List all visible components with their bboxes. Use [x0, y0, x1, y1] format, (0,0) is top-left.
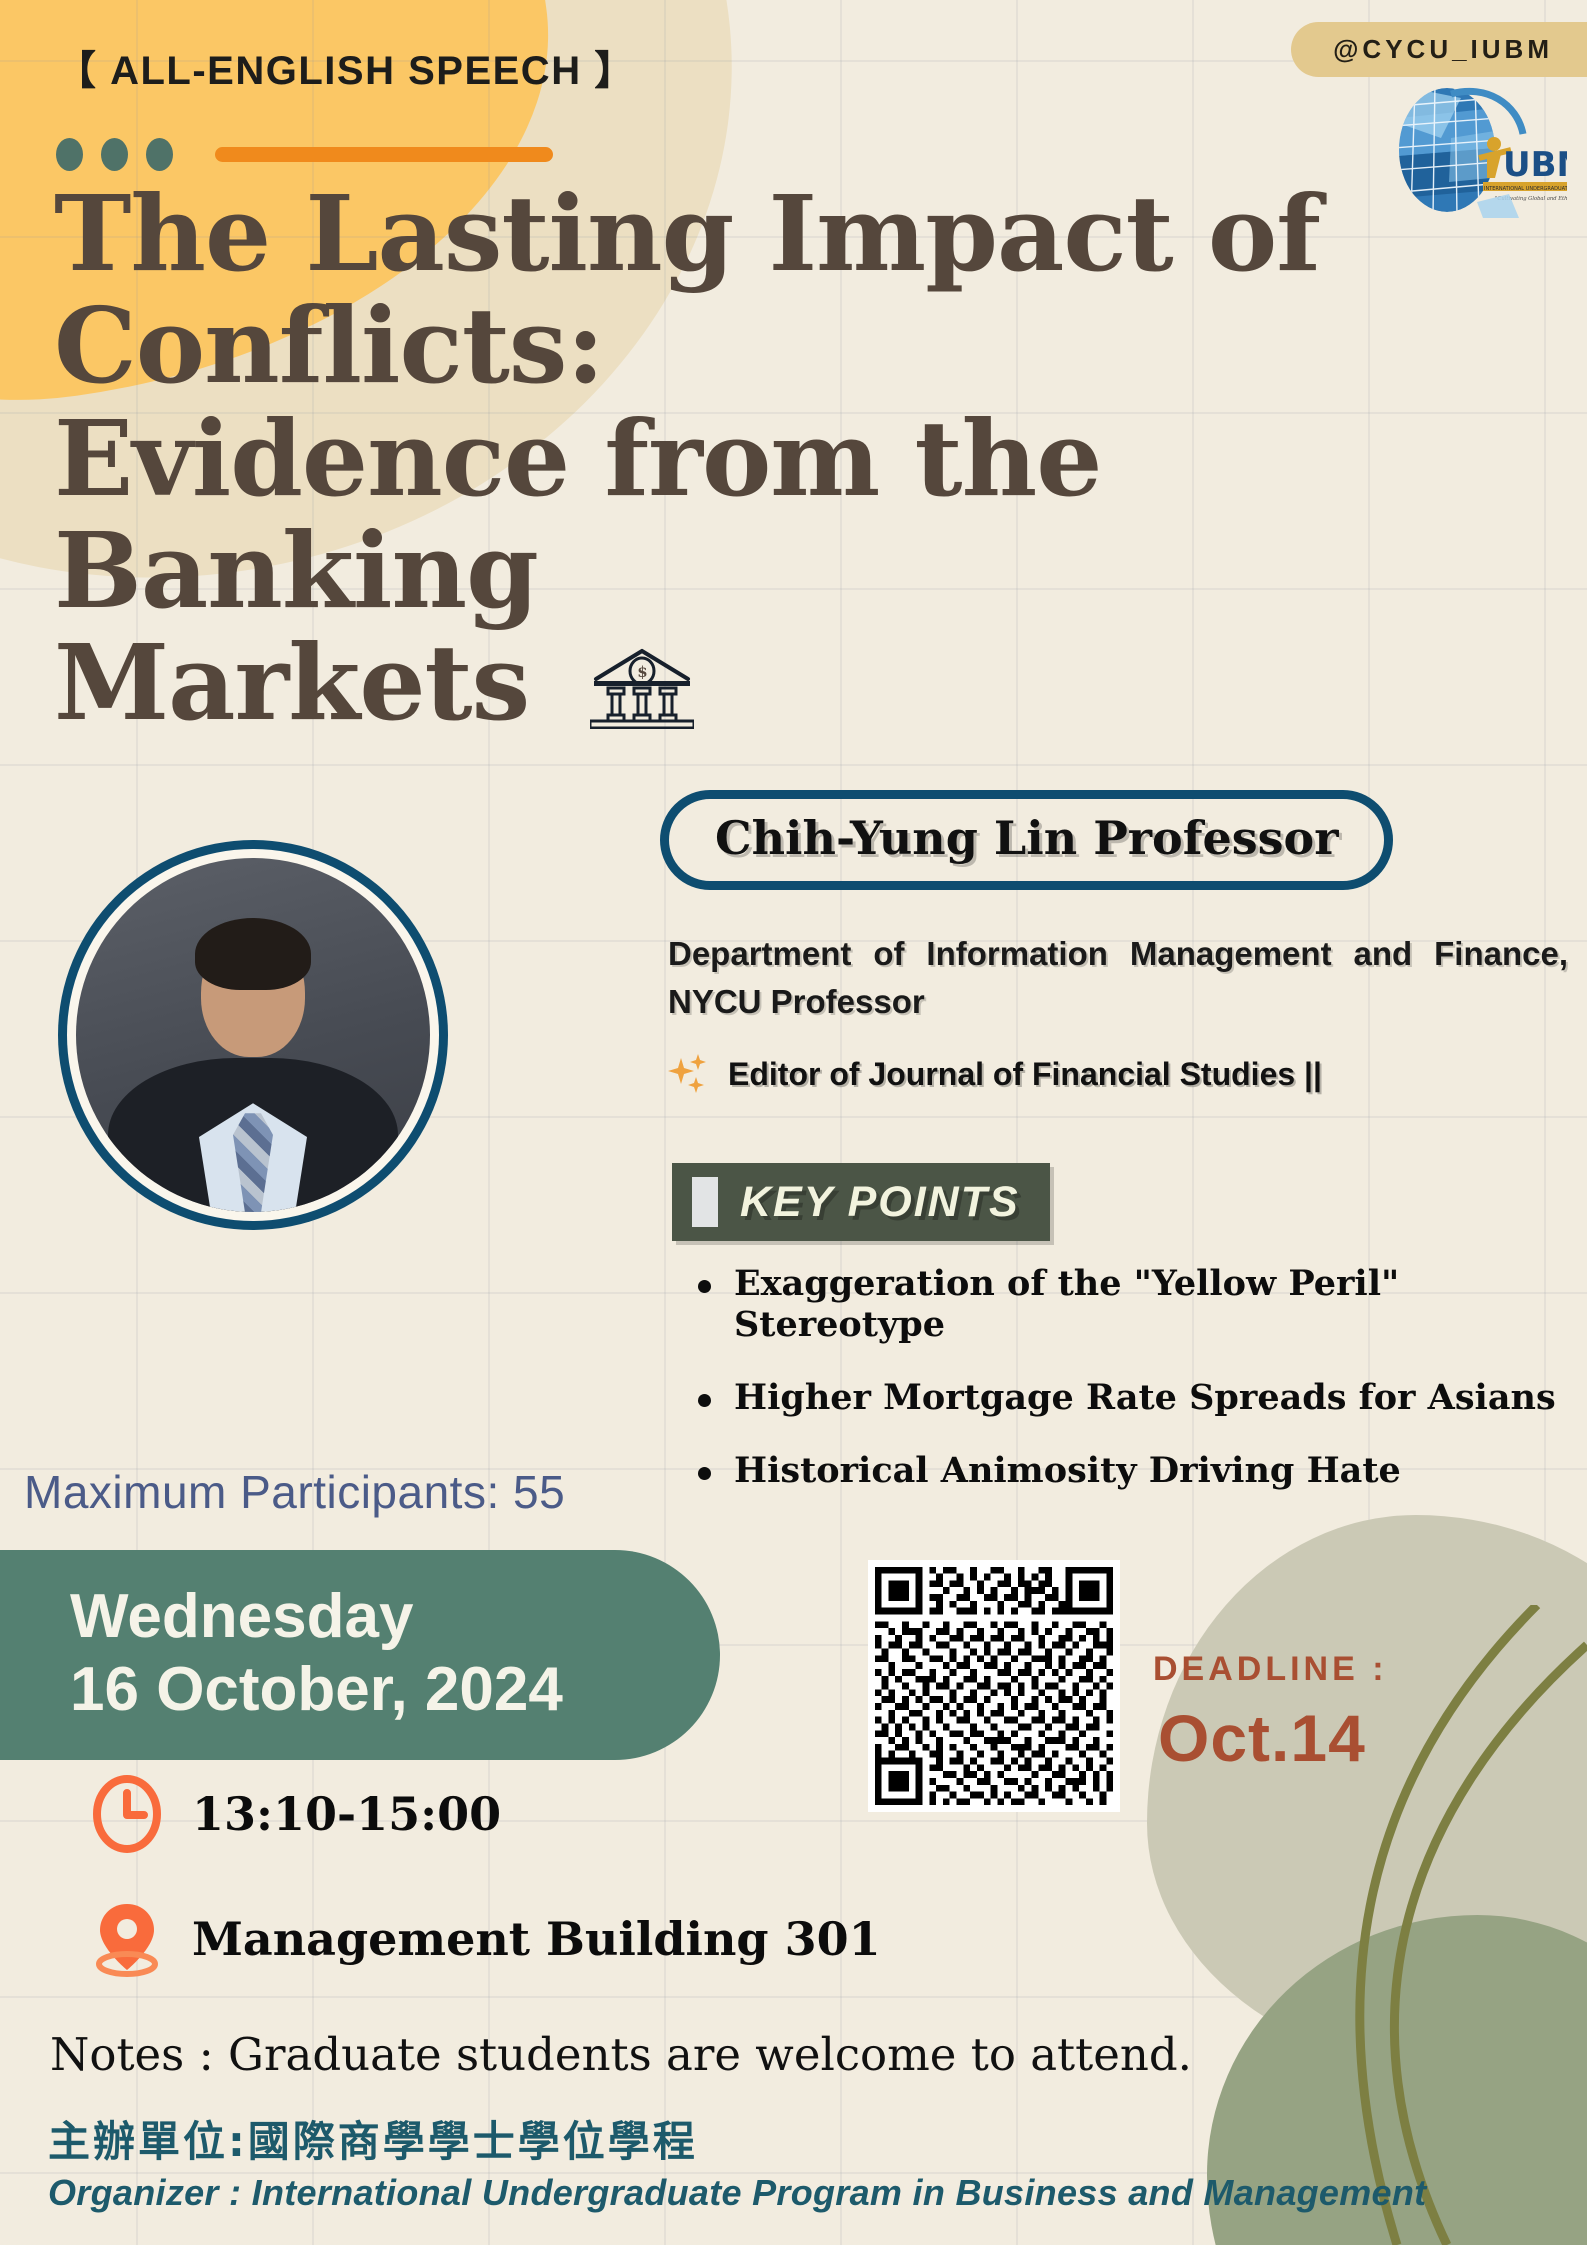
title-line-1: The Lasting Impact of: [54, 178, 1534, 290]
registration-qr-code[interactable]: [868, 1560, 1120, 1812]
key-point-item: Higher Mortgage Rate Spreads for Asians: [690, 1377, 1570, 1418]
notes-text: Notes : Graduate students are welcome to…: [50, 2028, 1192, 2081]
portrait-ring: [67, 849, 439, 1221]
clock-icon: [92, 1775, 162, 1853]
title-line-3: Evidence from the Banking: [54, 403, 1534, 628]
deadline-label: DEADLINE :: [1153, 1650, 1388, 1689]
svg-text:$: $: [638, 663, 648, 681]
qr-matrix: [868, 1560, 1120, 1812]
key-points-title: KEY POINTS: [740, 1178, 1020, 1227]
speaker-affiliation: Department of Information Management and…: [668, 930, 1568, 1026]
title-line-4-wrap: Markets $: [54, 627, 1534, 739]
credential-text: Editor of Journal of Financial Studies |…: [728, 1056, 1322, 1093]
max-participants: Maximum Participants: 55: [24, 1465, 565, 1519]
organizer-english: Organizer : International Undergraduate …: [48, 2172, 1426, 2214]
sparkles-icon: [668, 1052, 712, 1096]
divider-bar: [215, 147, 553, 162]
divider-dot-3: [146, 138, 173, 171]
key-points-marker: [692, 1177, 718, 1227]
social-handle: @CYCU_IUBM: [1291, 22, 1587, 77]
event-date: 16 October, 2024: [70, 1653, 720, 1726]
event-time-row: 13:10-15:00: [92, 1775, 501, 1853]
speaker-name-badge: Chih-Yung Lin Professor: [660, 790, 1393, 890]
event-poster: @CYCU_IUBM UBM INTERNATIONAL UNDERGRADUA…: [0, 0, 1587, 2245]
page-title: The Lasting Impact of Conflicts: Evidenc…: [54, 178, 1534, 740]
speaker-credential: Editor of Journal of Financial Studies |…: [668, 1052, 1322, 1096]
key-points-header: KEY POINTS: [672, 1163, 1050, 1241]
title-line-4: Markets: [54, 621, 529, 744]
deadline-date: Oct.14: [1158, 1700, 1366, 1776]
key-points-list: Exaggeration of the "Yellow Peril" Stere…: [690, 1263, 1570, 1523]
portrait-image: [76, 858, 430, 1212]
date-banner: Wednesday 16 October, 2024: [0, 1550, 720, 1760]
title-divider: [56, 138, 553, 171]
event-weekday: Wednesday: [70, 1580, 720, 1653]
portrait-hair: [195, 918, 311, 990]
event-time: 13:10-15:00: [192, 1787, 501, 1841]
key-point-item: Exaggeration of the "Yellow Peril" Stere…: [690, 1263, 1570, 1345]
map-pin-icon: [92, 1900, 162, 1978]
key-point-item: Historical Animosity Driving Hate: [690, 1450, 1570, 1491]
divider-dot-1: [56, 138, 83, 171]
title-line-2: Conflicts:: [54, 290, 1534, 402]
organizer-chinese: 主辦單位:國際商學學士學位學程: [48, 2108, 698, 2169]
speaker-portrait: [58, 840, 448, 1230]
event-location: Management Building 301: [192, 1912, 881, 1966]
bank-icon: $: [590, 645, 694, 729]
speech-type-tag: 【 ALL-ENGLISH SPEECH 】: [56, 38, 636, 96]
event-location-row: Management Building 301: [92, 1900, 881, 1978]
divider-dot-2: [101, 138, 128, 171]
